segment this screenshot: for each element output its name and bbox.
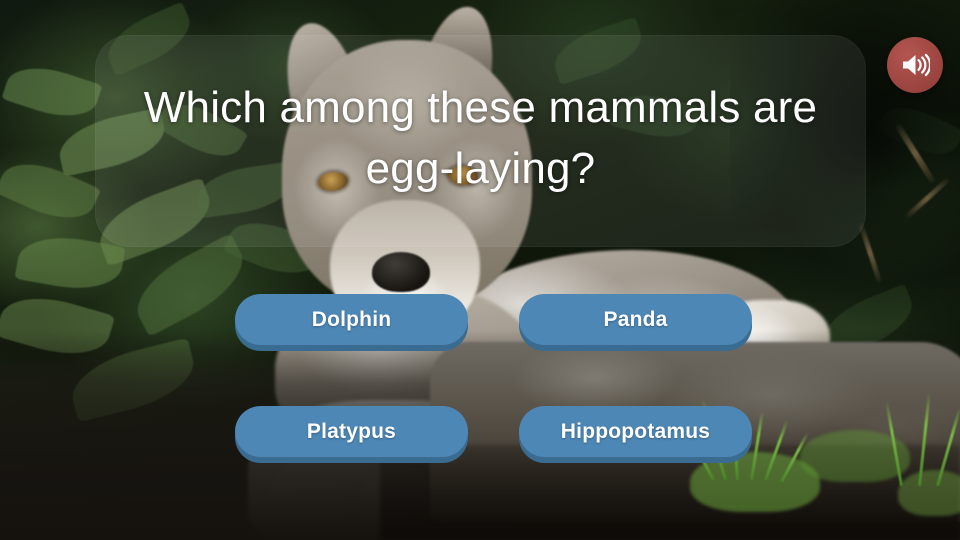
sound-toggle-button[interactable] bbox=[887, 37, 943, 93]
answer-label: Hippopotamus bbox=[561, 420, 710, 444]
answer-label: Dolphin bbox=[312, 308, 392, 332]
question-line-1: Which among these mammals are bbox=[95, 78, 866, 139]
answer-option-platypus[interactable]: Platypus bbox=[235, 406, 468, 457]
answer-option-panda[interactable]: Panda bbox=[519, 294, 752, 345]
answer-option-dolphin[interactable]: Dolphin bbox=[235, 294, 468, 345]
quiz-screen: Which among these mammals are egg-laying… bbox=[0, 0, 960, 540]
answer-option-hippopotamus[interactable]: Hippopotamus bbox=[519, 406, 752, 457]
moss-patch bbox=[898, 470, 960, 516]
wolf-nose bbox=[372, 252, 430, 292]
answer-label: Platypus bbox=[307, 420, 396, 444]
speaker-on-icon bbox=[900, 52, 930, 78]
question-text: Which among these mammals are egg-laying… bbox=[95, 78, 866, 199]
answer-label: Panda bbox=[603, 308, 667, 332]
question-line-2: egg-laying? bbox=[95, 139, 866, 200]
